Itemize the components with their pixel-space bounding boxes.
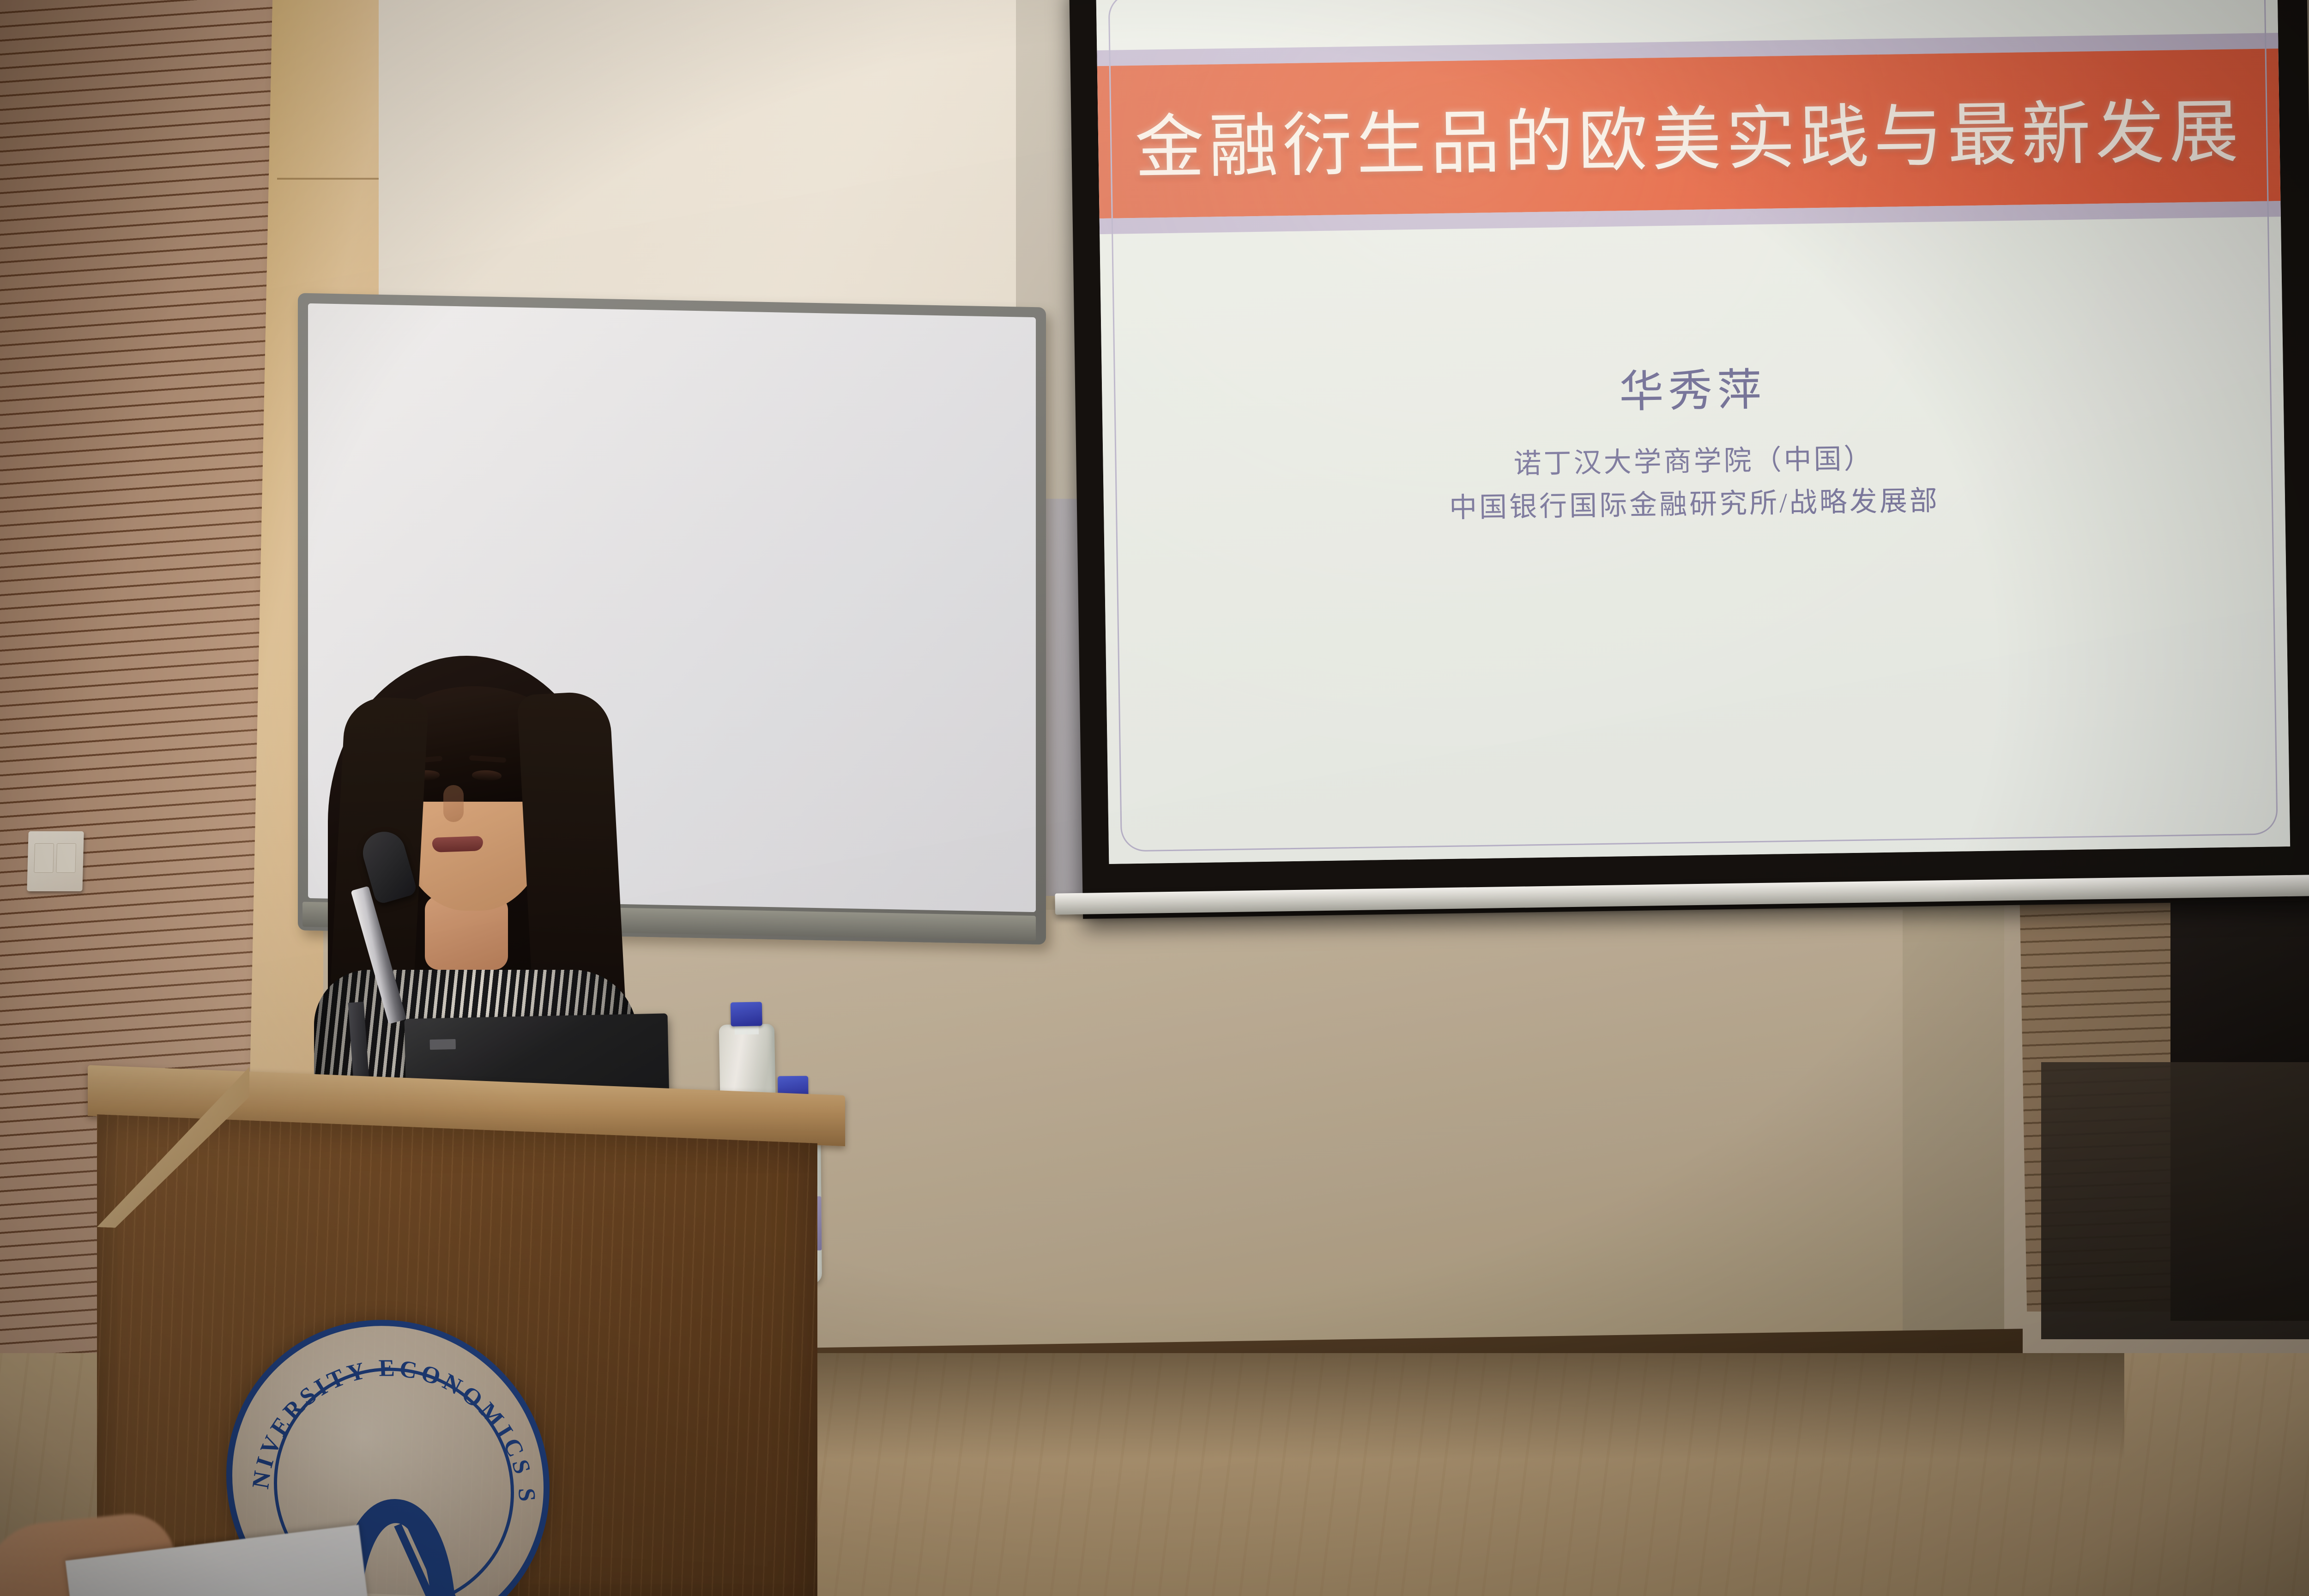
- right-dark-furniture: [2041, 1062, 2309, 1339]
- lecture-hall-scene: 金融衍生品的欧美实践与最新发展 华秀萍 诺丁汉大学商学院（中国） 中国银行国际金…: [0, 0, 2309, 1596]
- podium-front-panel: JILIN UNIVERSITY ECONOMICS SCHOOL: [97, 1114, 817, 1596]
- lectern-podium: JILIN UNIVERSITY ECONOMICS SCHOOL: [83, 1065, 868, 1596]
- slide-body: 华秀萍 诺丁汉大学商学院（中国） 中国银行国际金融研究所/战略发展部: [1100, 217, 2290, 864]
- light-switch-rocker-left[interactable]: [34, 843, 54, 873]
- light-switch-rocker-right[interactable]: [56, 843, 76, 873]
- projector-screen-canvas: 金融衍生品的欧美实践与最新发展 华秀萍 诺丁汉大学商学院（中国） 中国银行国际金…: [1096, 0, 2290, 864]
- slide-affiliation-line-2: 中国银行国际金融研究所/战略发展部: [1449, 479, 1940, 530]
- presentation-slide: 金融衍生品的欧美实践与最新发展 华秀萍 诺丁汉大学商学院（中国） 中国银行国际金…: [1096, 0, 2290, 864]
- pilaster-seam-line: [277, 178, 388, 180]
- laptop-logo: [430, 1039, 456, 1050]
- wall-light-switch[interactable]: [27, 831, 84, 891]
- slide-title: 金融衍生品的欧美实践与最新发展: [1134, 75, 2244, 192]
- water-bottle-cap[interactable]: [731, 1002, 762, 1026]
- projector-screen: 金融衍生品的欧美实践与最新发展 华秀萍 诺丁汉大学商学院（中国） 中国银行国际金…: [1069, 0, 2309, 919]
- presenter-mouth: [432, 836, 483, 852]
- slide-presenter-name: 华秀萍: [1619, 354, 1766, 420]
- floor-shadow: [693, 1353, 2124, 1459]
- slide-title-band: 金融衍生品的欧美实践与最新发展: [1097, 48, 2281, 218]
- presenter-nose: [443, 785, 464, 822]
- slide-affiliation-line-1: 诺丁汉大学商学院（中国）: [1513, 437, 1874, 486]
